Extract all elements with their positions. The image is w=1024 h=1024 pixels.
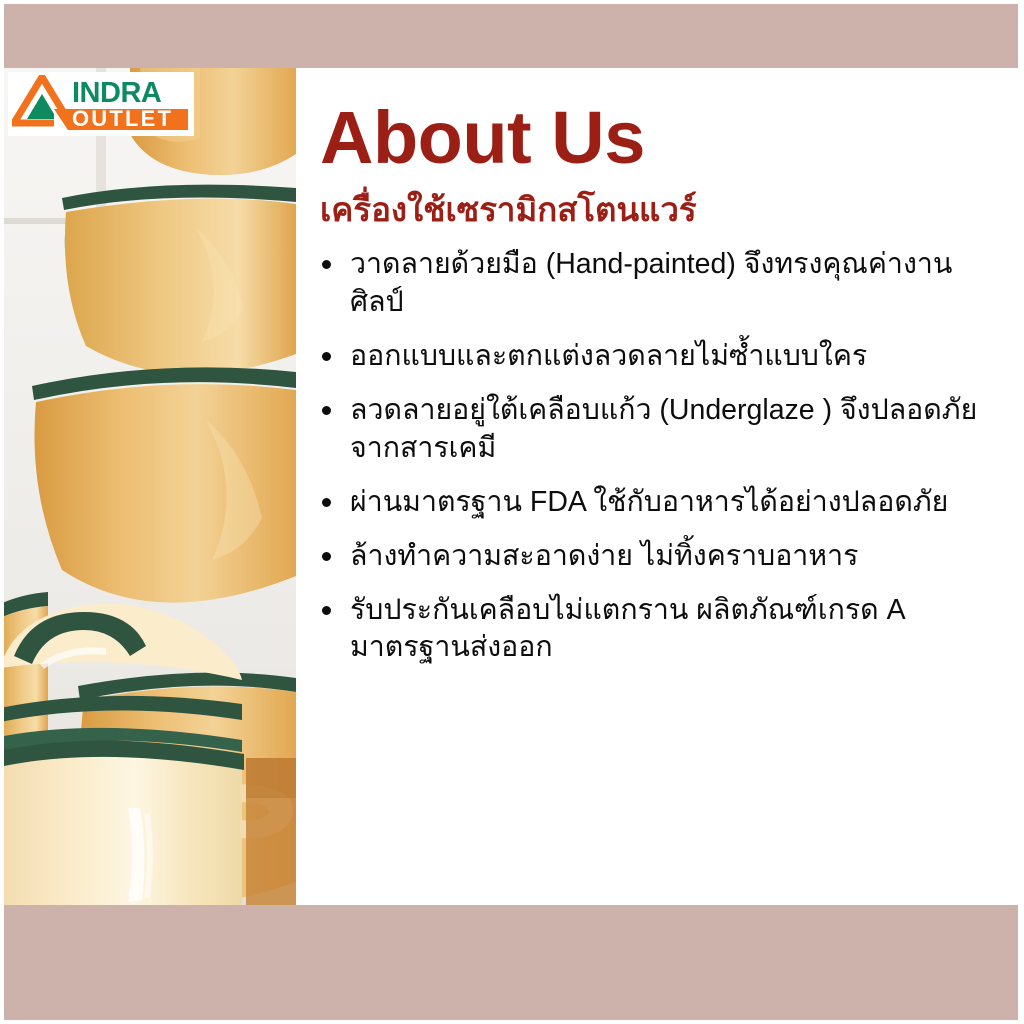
indra-outlet-logo[interactable]: INDRA OUTLET bbox=[8, 72, 194, 136]
top-decorative-band bbox=[0, 0, 1024, 68]
bullet-dot-icon bbox=[322, 352, 331, 361]
ceramic-stoneware-photo bbox=[0, 68, 296, 905]
bullet-dot-icon bbox=[322, 406, 331, 415]
list-item-warranty: รับประกันเคลือบไม่แตกราน ผลิตภัณฑ์เกรด A… bbox=[314, 592, 1004, 668]
list-item-unique-design: ออกแบบและตกแต่งลวดลายไม่ซ้ำแบบใคร bbox=[314, 338, 1004, 376]
list-item-fda: ผ่านมาตรฐาน FDA ใช้กับอาหารได้อย่างปลอดภ… bbox=[314, 484, 1004, 522]
list-item-label: รับประกันเคลือบไม่แตกราน ผลิตภัณฑ์เกรด A… bbox=[350, 594, 904, 664]
list-item-label: ลวดลายอยู่ใต้เคลือบแก้ว (Underglaze ) จึ… bbox=[350, 394, 977, 464]
top-margin bbox=[0, 0, 1024, 4]
list-item-label: ล้างทำความสะอาดง่าย ไม่ทิ้งคราบอาหาร bbox=[350, 540, 858, 572]
list-item-label: วาดลายด้วยมือ (Hand-painted) จึงทรงคุณค่… bbox=[350, 248, 952, 318]
logo-brand-top: INDRA bbox=[72, 77, 162, 109]
page-subtitle: เครื่องใช้เซรามิกสโตนแวร์ bbox=[320, 189, 1004, 230]
bottom-decorative-band bbox=[0, 905, 1024, 1024]
bullet-dot-icon bbox=[322, 552, 331, 561]
right-margin bbox=[1018, 0, 1024, 1024]
bottom-margin bbox=[0, 1020, 1024, 1024]
page-title: About Us bbox=[320, 102, 1004, 173]
list-item-underglaze: ลวดลายอยู่ใต้เคลือบแก้ว (Underglaze ) จึ… bbox=[314, 392, 1004, 468]
bullet-dot-icon bbox=[322, 498, 331, 507]
feature-list: วาดลายด้วยมือ (Hand-painted) จึงทรงคุณค่… bbox=[314, 246, 1004, 667]
list-item-hand-painted: วาดลายด้วยมือ (Hand-painted) จึงทรงคุณค่… bbox=[314, 246, 1004, 322]
content-panel: About Us เครื่องใช้เซรามิกสโตนแวร์ วาดลา… bbox=[296, 68, 1018, 905]
bullet-dot-icon bbox=[322, 606, 331, 615]
logo-artwork: INDRA OUTLET bbox=[12, 75, 190, 133]
left-margin bbox=[0, 0, 4, 1024]
photo-artwork bbox=[0, 68, 296, 905]
list-item-easy-clean: ล้างทำความสะอาดง่าย ไม่ทิ้งคราบอาหาร bbox=[314, 538, 1004, 576]
bullet-dot-icon bbox=[322, 260, 331, 269]
logo-brand-bottom: OUTLET bbox=[72, 106, 173, 131]
about-us-slide: INDRA OUTLET About Us เครื่องใช้เซรามิกส… bbox=[0, 0, 1024, 1024]
list-item-label: ผ่านมาตรฐาน FDA ใช้กับอาหารได้อย่างปลอดภ… bbox=[350, 486, 948, 518]
list-item-label: ออกแบบและตกแต่งลวดลายไม่ซ้ำแบบใคร bbox=[350, 340, 867, 372]
